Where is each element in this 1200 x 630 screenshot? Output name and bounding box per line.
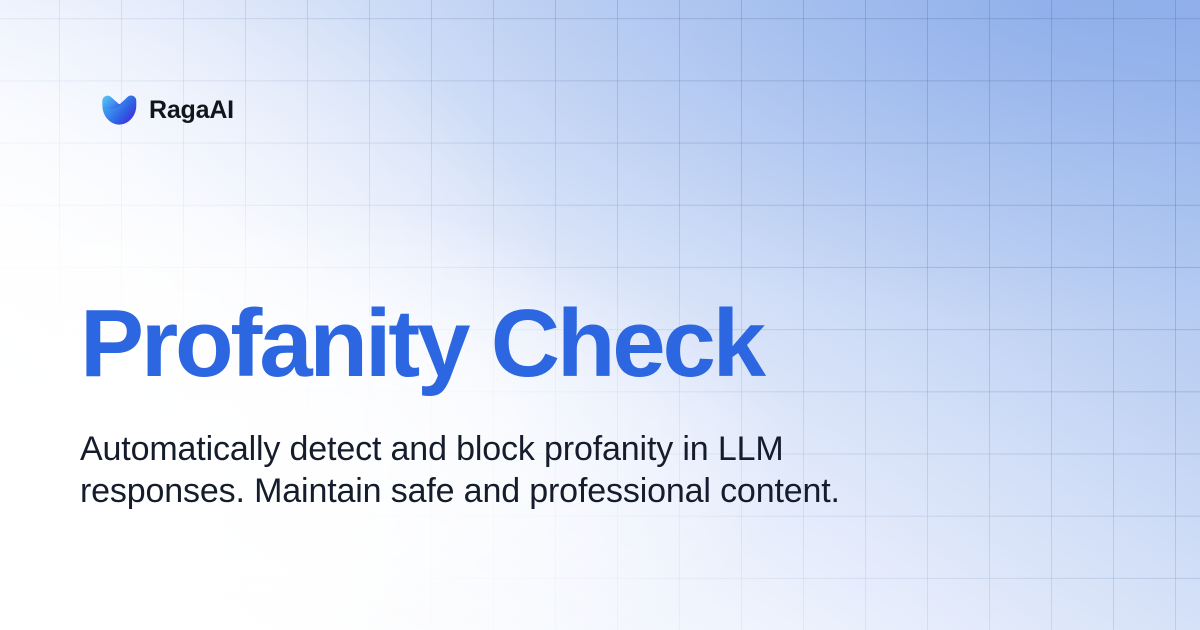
ragaai-swoosh-logo-icon xyxy=(100,95,138,125)
page-description: Automatically detect and block profanity… xyxy=(80,428,870,512)
brand-logo[interactable]: RagaAI xyxy=(100,95,234,125)
banner-content: RagaAI Profanity Check Automatically det… xyxy=(0,0,1200,630)
brand-name: RagaAI xyxy=(149,98,234,123)
promo-banner: RagaAI Profanity Check Automatically det… xyxy=(0,0,1200,630)
page-title: Profanity Check xyxy=(80,296,763,392)
